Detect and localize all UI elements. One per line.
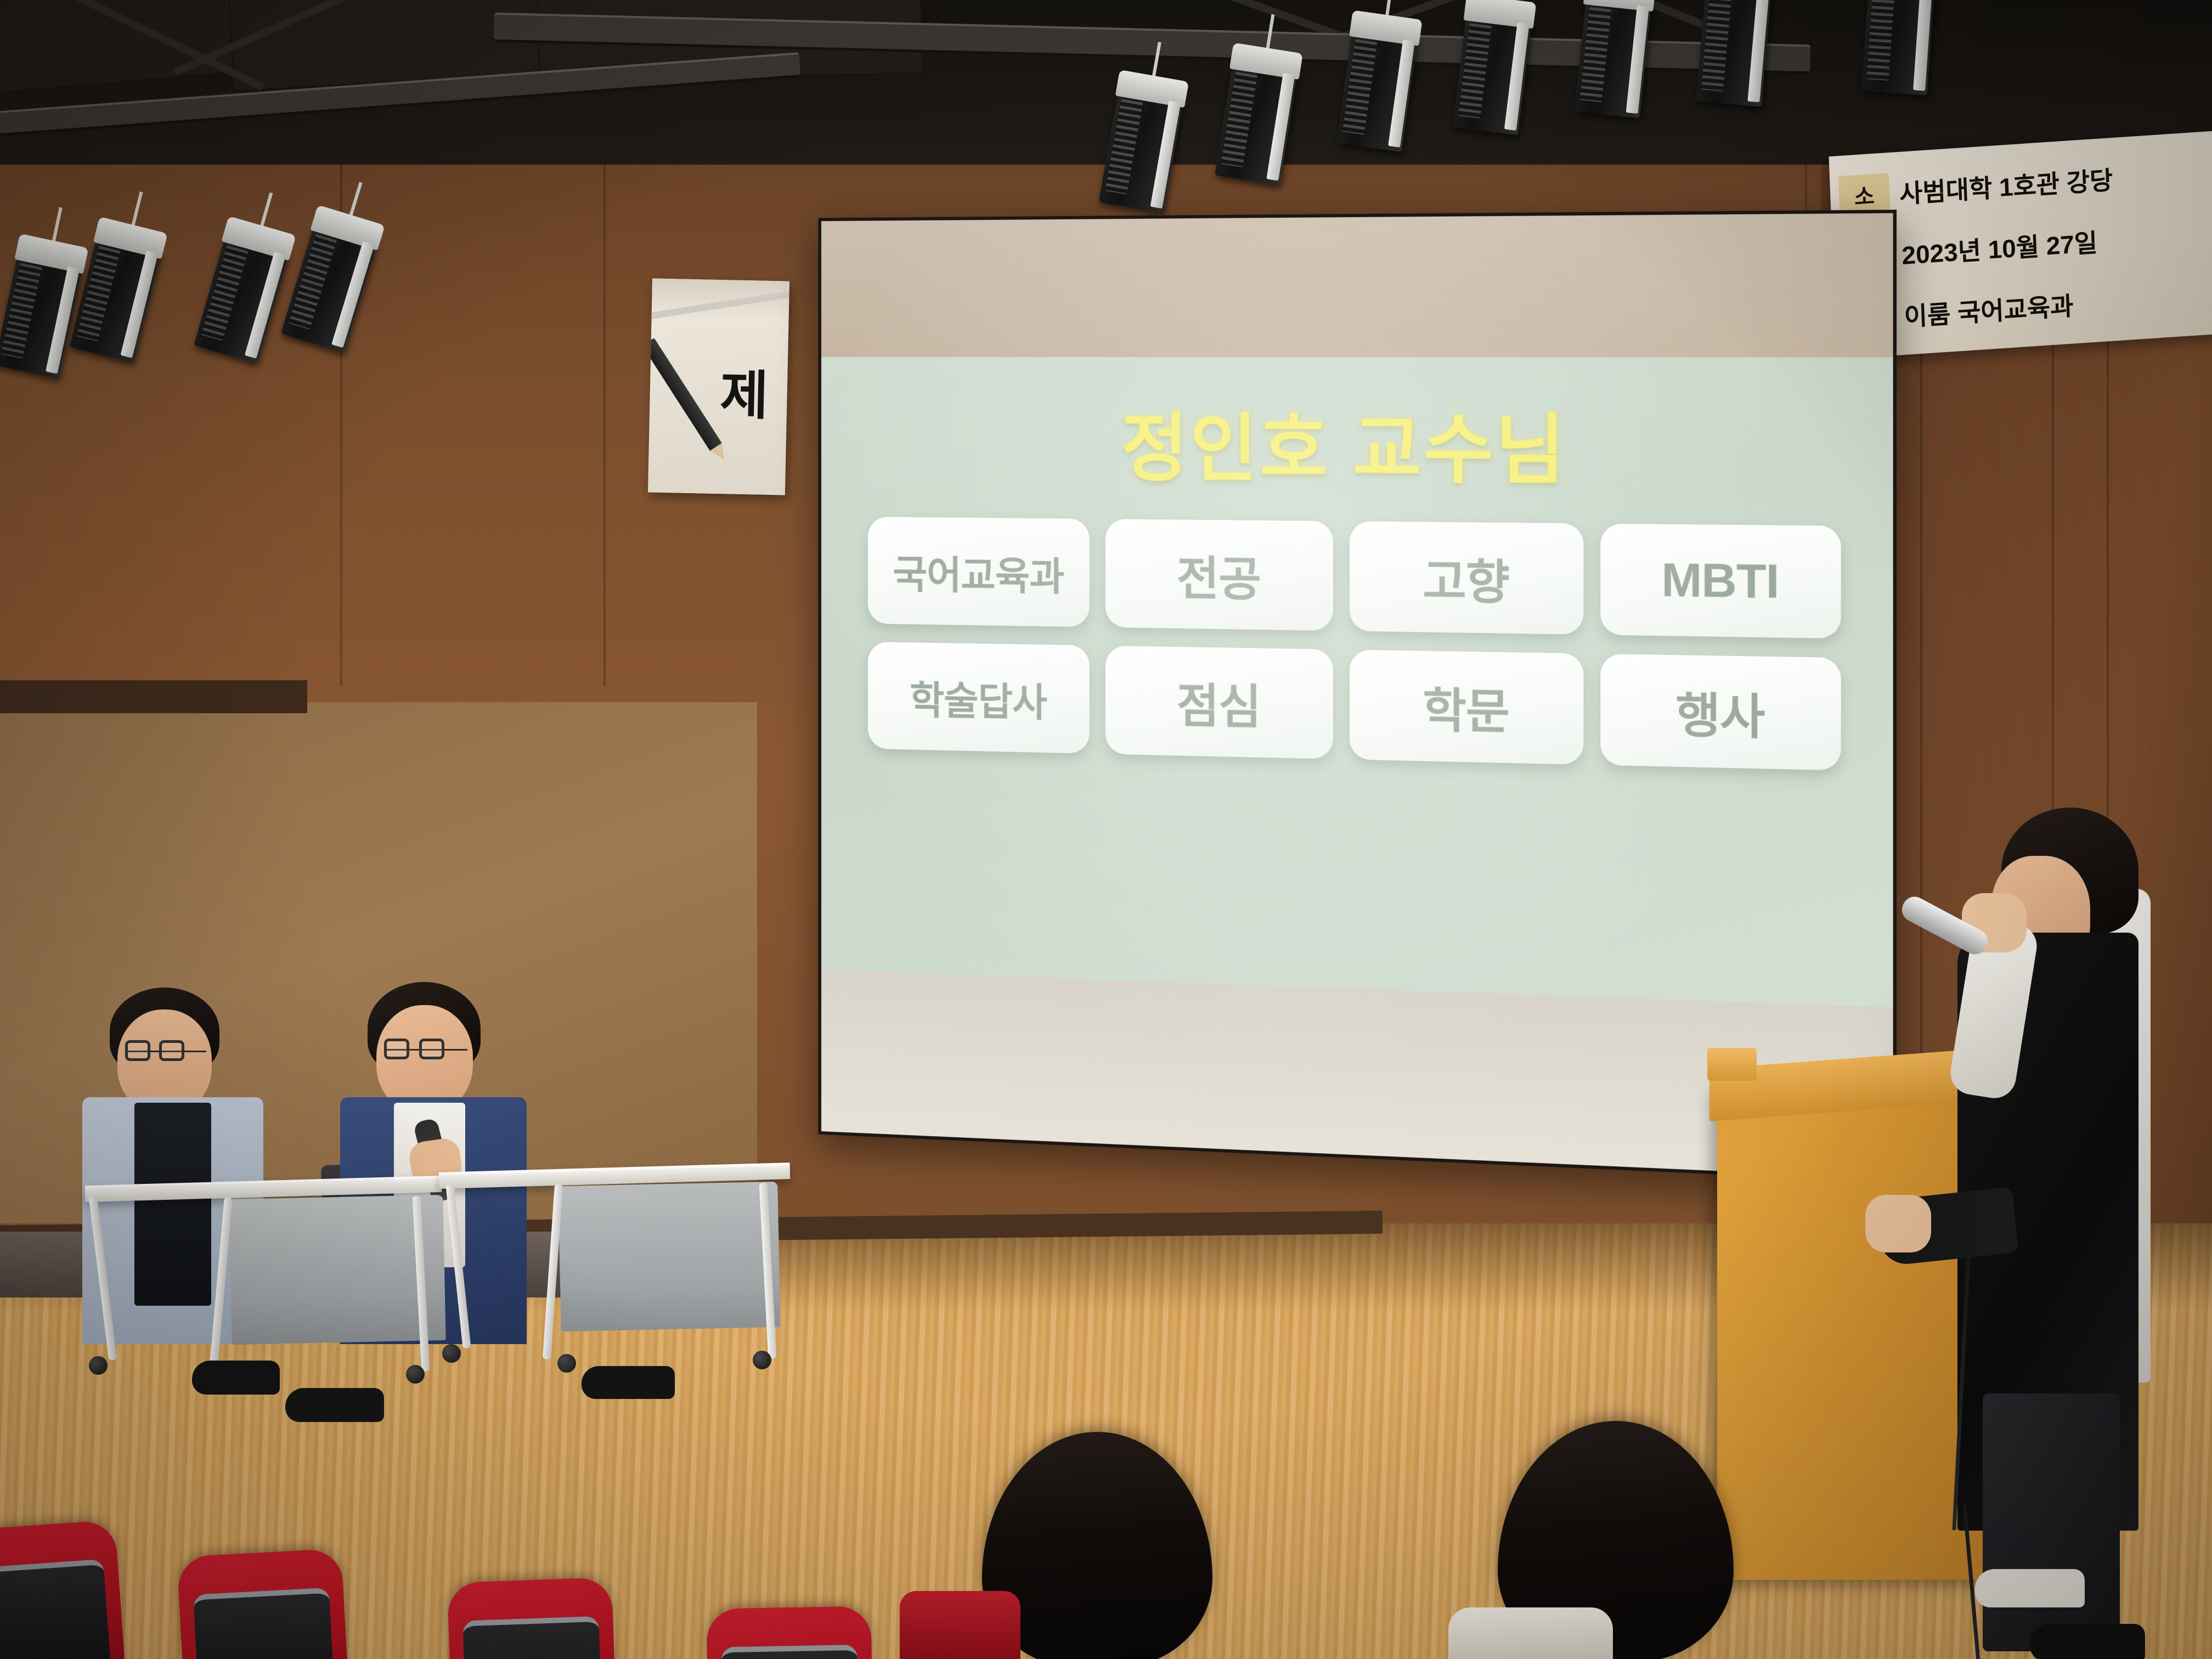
banner-row-value: 2023년 10월 27일 — [1901, 223, 2098, 272]
projection-screen: 정인호 교수님 국어교육과 전공 고향 MBTI 학술답사 점심 학문 행사 — [818, 210, 1897, 1182]
auditorium-seat — [706, 1606, 873, 1659]
shoe — [1975, 1569, 2085, 1607]
shoe — [285, 1388, 384, 1422]
banner-left: 제 — [648, 278, 789, 495]
stage-light-icon — [1574, 0, 1651, 119]
glasses-icon — [125, 1051, 206, 1052]
screen-top-band — [821, 213, 1893, 360]
audience-shoulder — [900, 1591, 1020, 1659]
caster-wheel — [557, 1354, 576, 1373]
stage-light-icon — [1696, 0, 1771, 107]
slide-title: 정인호 교수님 — [862, 388, 1847, 501]
slide-tile-major[interactable]: 전공 — [1105, 519, 1333, 631]
torso-shirt — [134, 1103, 211, 1306]
shoe — [582, 1366, 675, 1399]
stage-light-icon — [1453, 13, 1532, 135]
presenter-trousers — [1983, 1393, 2120, 1651]
shoe — [192, 1361, 280, 1395]
panel-table-modesty — [558, 1182, 780, 1331]
banner-left-glyph: 제 — [719, 352, 769, 430]
caster-wheel — [753, 1351, 771, 1369]
slide-tile-event[interactable]: 행사 — [1600, 654, 1841, 771]
wall-seam — [603, 165, 606, 686]
shoe — [2030, 1624, 2145, 1659]
slide-tile-grid: 국어교육과 전공 고향 MBTI 학술답사 점심 학문 행사 — [862, 517, 1847, 771]
banner-row-value: 이룸 국어교육과 — [1903, 286, 2074, 333]
auditorium-seat — [177, 1548, 349, 1659]
pencil-icon — [648, 338, 723, 452]
slide-tile-lunch[interactable]: 점심 — [1105, 646, 1333, 759]
auditorium-seat — [0, 1520, 126, 1659]
slide-tile-hometown[interactable]: 고향 — [1350, 521, 1584, 635]
banner-row-value: 사범대학 1호관 강당 — [1899, 160, 2114, 211]
auditorium-scene: 제 소 사범대학 1호관 강당 시 2023년 10월 27일 최 이룸 국어교… — [0, 0, 2212, 1659]
audience-shoulder — [1448, 1607, 1613, 1659]
auditorium-seat — [447, 1577, 617, 1659]
slide-tile-kor-edu[interactable]: 국어교육과 — [868, 517, 1090, 627]
caster-wheel — [89, 1356, 108, 1375]
caster-wheel — [406, 1365, 425, 1384]
wall-panel-shadow — [0, 680, 307, 713]
slide-content: 정인호 교수님 국어교육과 전공 고향 MBTI 학술답사 점심 학문 행사 — [821, 357, 1893, 1008]
glasses-icon — [384, 1049, 467, 1051]
slide-tile-scholarship[interactable]: 학문 — [1350, 650, 1584, 765]
hand — [1865, 1195, 1931, 1252]
stage-light-icon — [1861, 0, 1935, 95]
caster-wheel — [442, 1344, 461, 1363]
slide-tile-mbti[interactable]: MBTI — [1600, 523, 1841, 639]
slide-tile-field-trip[interactable]: 학술답사 — [868, 642, 1090, 754]
